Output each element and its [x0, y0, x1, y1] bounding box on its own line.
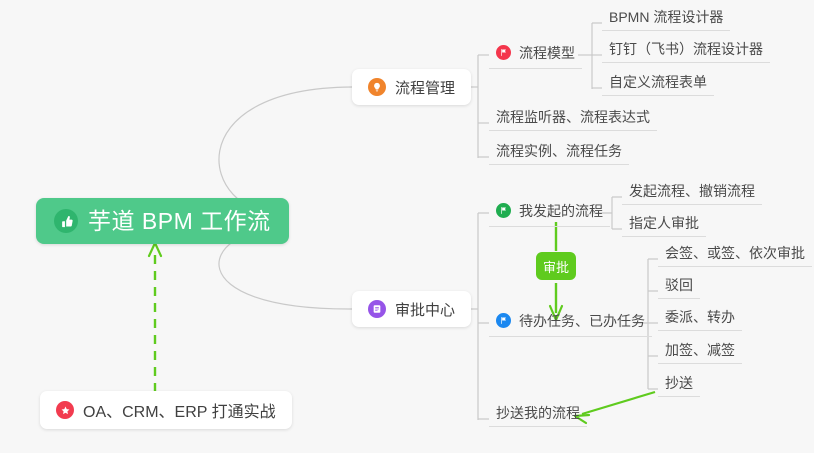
branch-node-process-management[interactable]: 流程管理 — [352, 69, 471, 105]
lightbulb-icon — [368, 78, 386, 96]
node-label-countersign: 会签、或签、依次审批 — [665, 246, 805, 261]
mindmap-canvas: 芋道 BPM 工作流 流程管理 流程模型 BPMN 流程设计器 钉钉（飞书）流程… — [0, 0, 814, 453]
node-add-remove-sign[interactable]: 加签、减签 — [658, 343, 742, 364]
root-label: 芋道 BPM 工作流 — [88, 210, 271, 233]
approval-badge-label: 审批 — [543, 257, 569, 276]
node-bpmn-designer[interactable]: BPMN 流程设计器 — [602, 10, 730, 31]
clipboard-icon — [368, 300, 386, 318]
node-label-custom-process-form: 自定义流程表单 — [609, 75, 707, 90]
node-start-cancel[interactable]: 发起流程、撤销流程 — [622, 184, 762, 205]
node-label-cc: 抄送 — [665, 376, 693, 391]
green-dashed-relation — [149, 243, 161, 392]
thumbs-up-icon — [54, 209, 78, 233]
node-label-start-cancel: 发起流程、撤销流程 — [629, 184, 755, 199]
node-dingtalk-feishu-designer[interactable]: 钉钉（飞书）流程设计器 — [602, 42, 770, 63]
branch-label-process-management: 流程管理 — [395, 77, 455, 98]
footnote-node-oa-crm-erp[interactable]: OA、CRM、ERP 打通实战 — [40, 391, 292, 429]
star-icon — [56, 401, 74, 419]
green-cc-arrow — [575, 392, 655, 423]
node-reject[interactable]: 驳回 — [658, 278, 700, 299]
node-custom-process-form[interactable]: 自定义流程表单 — [602, 75, 714, 96]
node-process-model[interactable]: 流程模型 — [489, 41, 582, 69]
flag-blue-icon — [496, 313, 511, 328]
node-label-process-model: 流程模型 — [519, 43, 575, 63]
root-node[interactable]: 芋道 BPM 工作流 — [36, 198, 289, 244]
node-todo-done-tasks[interactable]: 待办任务、已办任务 — [489, 309, 652, 337]
node-assignee-approval[interactable]: 指定人审批 — [622, 216, 706, 237]
link-root-to-process-management — [219, 87, 352, 214]
node-label-dingtalk-feishu-designer: 钉钉（飞书）流程设计器 — [609, 42, 763, 57]
branch-label-approval-center: 审批中心 — [395, 299, 455, 320]
node-label-my-initiated: 我发起的流程 — [519, 201, 603, 221]
node-label-todo-done-tasks: 待办任务、已办任务 — [519, 311, 645, 331]
flag-red-icon — [496, 45, 511, 60]
node-delegate-transfer[interactable]: 委派、转办 — [658, 310, 742, 331]
node-instance-task[interactable]: 流程实例、流程任务 — [489, 144, 629, 165]
node-listener-expression[interactable]: 流程监听器、流程表达式 — [489, 110, 657, 131]
node-label-delegate-transfer: 委派、转办 — [665, 310, 735, 325]
node-label-reject: 驳回 — [665, 278, 693, 293]
node-cc[interactable]: 抄送 — [658, 376, 700, 397]
node-countersign[interactable]: 会签、或签、依次审批 — [658, 246, 812, 267]
node-label-bpmn-designer: BPMN 流程设计器 — [609, 10, 723, 25]
node-cc-to-me[interactable]: 抄送我的流程 — [489, 406, 587, 427]
footnote-label: OA、CRM、ERP 打通实战 — [83, 398, 276, 422]
flag-green-icon — [496, 203, 511, 218]
node-label-cc-to-me: 抄送我的流程 — [496, 406, 580, 421]
node-label-instance-task: 流程实例、流程任务 — [496, 144, 622, 159]
node-label-add-remove-sign: 加签、减签 — [665, 343, 735, 358]
node-label-listener-expression: 流程监听器、流程表达式 — [496, 110, 650, 125]
approval-badge[interactable]: 审批 — [536, 252, 576, 280]
node-my-initiated[interactable]: 我发起的流程 — [489, 199, 610, 227]
branch-node-approval-center[interactable]: 审批中心 — [352, 291, 471, 327]
node-label-assignee-approval: 指定人审批 — [629, 216, 699, 231]
